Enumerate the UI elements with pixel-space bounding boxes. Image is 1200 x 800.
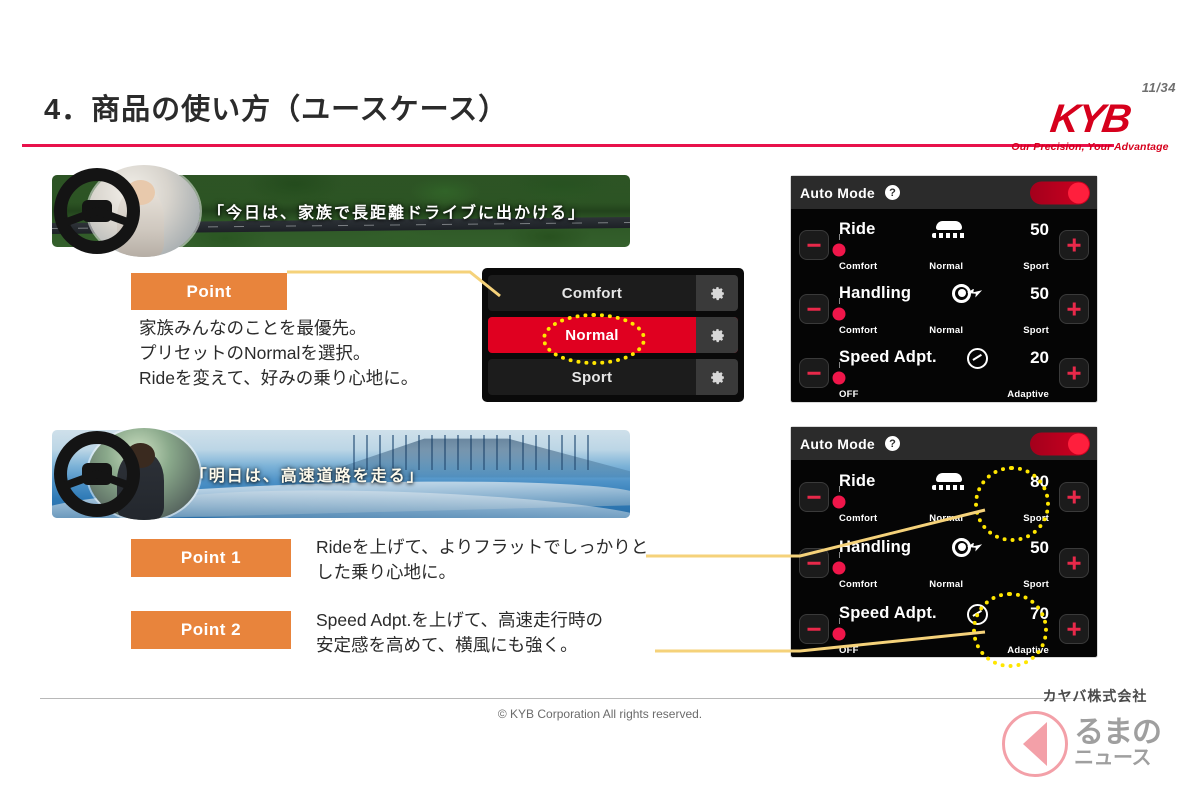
scale-max: Sport — [1023, 325, 1049, 336]
scale-min: Comfort — [839, 325, 877, 336]
preset-label: Comfort — [488, 285, 696, 302]
hmi-panel-1: Auto Mode ? Ride 50 — [790, 175, 1098, 403]
ride-label: Ride — [839, 220, 876, 239]
driver-cutin-1 — [52, 175, 212, 247]
handling-increase-button[interactable] — [1059, 294, 1089, 324]
preset-settings-button[interactable] — [696, 275, 738, 311]
ride-label: Ride — [839, 472, 876, 491]
watermark-line-1: るまの — [1074, 719, 1161, 748]
ride-slider-group: Ride 80 Comfort Normal Sport — [835, 470, 1053, 524]
steering-wheel-icon — [54, 431, 140, 517]
setting-row-speed-adpt: Speed Adpt. 70 OFF Adaptive — [791, 596, 1097, 662]
speed-adpt-increase-button[interactable] — [1059, 614, 1089, 644]
point-badge-1: Point 1 — [131, 539, 291, 577]
scale-min: OFF — [839, 645, 859, 656]
preset-settings-button[interactable] — [696, 317, 738, 353]
setting-row-speed-adpt: Speed Adpt. 20 OFF Adaptive — [791, 341, 1097, 405]
handling-decrease-button[interactable] — [799, 294, 829, 324]
kyb-logo: KYB Our Precision, Your Advantage — [1008, 100, 1172, 153]
speed-adpt-value: 20 — [1023, 348, 1049, 368]
page-number: 11/34 — [1142, 80, 1176, 95]
point-text-main: 家族みんなのことを最優先。 プリセットのNormalを選択。 Rideを変えて、… — [139, 316, 418, 391]
handling-slider-group: Handling 50 Comfort Normal S — [835, 536, 1053, 590]
scale-mid: Normal — [929, 579, 963, 590]
handling-increase-button[interactable] — [1059, 548, 1089, 578]
scale-max: Sport — [1023, 513, 1049, 524]
toggle-knob — [1068, 433, 1089, 454]
speed-adpt-scale: OFF Adaptive — [837, 387, 1051, 400]
steering-wheel-icon — [950, 538, 984, 558]
handling-decrease-button[interactable] — [799, 548, 829, 578]
gear-icon — [709, 327, 726, 344]
watermark-company: カヤバ株式会社 — [1002, 686, 1188, 706]
speed-adpt-scale: OFF Adaptive — [837, 643, 1051, 656]
point-badge-2: Point 2 — [131, 611, 291, 649]
point-text-2: Speed Adpt.を上げて、高速走行時の 安定感を高めて、横風にも強く。 — [316, 608, 603, 658]
scale-max: Adaptive — [1007, 645, 1049, 656]
handling-scale: Comfort Normal Sport — [837, 323, 1051, 336]
footer-divider — [40, 698, 1085, 699]
setting-row-handling: Handling 50 Comfort Normal S — [791, 530, 1097, 596]
watermark-logo: カヤバ株式会社 るまの ニュース — [1002, 686, 1188, 778]
scale-min: Comfort — [839, 579, 877, 590]
handling-label: Handling — [839, 538, 911, 557]
speed-adpt-value: 70 — [1023, 604, 1049, 624]
scale-max: Adaptive — [1007, 389, 1049, 400]
kyb-logo-tagline: Our Precision, Your Advantage — [1008, 141, 1172, 153]
gauge-icon — [963, 348, 997, 368]
speed-adpt-slider-group: Speed Adpt. 20 OFF Adaptive — [835, 346, 1053, 400]
gauge-icon — [963, 604, 997, 624]
ride-decrease-button[interactable] — [799, 482, 829, 512]
steering-wheel-icon — [54, 168, 140, 254]
gear-icon — [709, 285, 726, 302]
car-suspension-icon — [932, 472, 966, 492]
speed-adpt-label: Speed Adpt. — [839, 604, 937, 623]
scale-max: Sport — [1023, 261, 1049, 272]
scale-max: Sport — [1023, 579, 1049, 590]
handling-value: 50 — [1023, 284, 1049, 304]
panel-body: Ride 80 Comfort Normal Sport — [791, 460, 1097, 664]
speed-adpt-label: Speed Adpt. — [839, 348, 937, 367]
ride-value: 50 — [1023, 220, 1049, 240]
scale-mid: Normal — [929, 261, 963, 272]
auto-mode-toggle[interactable] — [1030, 432, 1090, 455]
page-title: 4．商品の使い方（ユースケース） — [44, 86, 508, 128]
scale-mid: Normal — [929, 325, 963, 336]
speed-adpt-increase-button[interactable] — [1059, 358, 1089, 388]
steering-wheel-icon — [950, 284, 984, 304]
scene-caption-2: 「明日は、高速道路を走る」 — [191, 462, 425, 486]
driver-badge-2 — [52, 430, 172, 518]
scale-mid: Normal — [929, 513, 963, 524]
speed-adpt-decrease-button[interactable] — [799, 614, 829, 644]
ride-scale: Comfort Normal Sport — [837, 511, 1051, 524]
preset-label: Normal — [488, 327, 696, 344]
speed-adpt-slider-group: Speed Adpt. 70 OFF Adaptive — [835, 602, 1053, 656]
question-icon[interactable]: ? — [885, 185, 900, 200]
auto-mode-label: Auto Mode — [800, 185, 875, 201]
speed-adpt-decrease-button[interactable] — [799, 358, 829, 388]
kurumanews-logo: るまの ニュース — [1002, 710, 1188, 778]
ride-slider-group: Ride 50 Comfort Normal Sport — [835, 218, 1053, 272]
chevron-circle-icon — [1002, 711, 1068, 777]
auto-mode-toggle[interactable] — [1030, 181, 1090, 204]
panel-header: Auto Mode ? — [791, 176, 1097, 209]
panel-header: Auto Mode ? — [791, 427, 1097, 460]
point-text-1: Rideを上げて、よりフラットでしっかりと した乗り心地に。 — [316, 535, 648, 585]
preset-label: Sport — [488, 369, 696, 386]
ride-decrease-button[interactable] — [799, 230, 829, 260]
ride-increase-button[interactable] — [1059, 230, 1089, 260]
setting-row-ride: Ride 80 Comfort Normal Sport — [791, 464, 1097, 530]
ride-increase-button[interactable] — [1059, 482, 1089, 512]
watermark-line-2: ニュース — [1074, 747, 1161, 769]
preset-option-comfort[interactable]: Comfort — [488, 275, 738, 311]
slide-root: 11/34 4．商品の使い方（ユースケース） KYB Our Precision… — [0, 0, 1200, 800]
driver-cutin-2 — [52, 430, 212, 518]
car-suspension-icon — [932, 220, 966, 240]
question-icon[interactable]: ? — [885, 436, 900, 451]
handling-label: Handling — [839, 284, 911, 303]
preset-option-normal[interactable]: Normal — [488, 317, 738, 353]
preset-settings-button[interactable] — [696, 359, 738, 395]
auto-mode-label: Auto Mode — [800, 436, 875, 452]
title-divider — [22, 144, 1114, 147]
scale-min: Comfort — [839, 513, 877, 524]
driver-badge-1 — [52, 175, 172, 247]
handling-value: 50 — [1023, 538, 1049, 558]
scale-min: OFF — [839, 389, 859, 400]
point-badge-main: Point — [131, 273, 287, 310]
preset-option-sport[interactable]: Sport — [488, 359, 738, 395]
scene-caption-1: 「今日は、家族で長距離ドライブに出かける」 — [208, 199, 586, 223]
ride-scale: Comfort Normal Sport — [837, 259, 1051, 272]
scale-min: Comfort — [839, 261, 877, 272]
kyb-logo-mark: KYB — [1005, 100, 1174, 138]
gear-icon — [709, 369, 726, 386]
watermark-text: るまの ニュース — [1074, 719, 1161, 770]
hmi-panel-2: Auto Mode ? Ride 80 — [790, 426, 1098, 658]
handling-scale: Comfort Normal Sport — [837, 577, 1051, 590]
panel-body: Ride 50 Comfort Normal Sport — [791, 209, 1097, 407]
setting-row-ride: Ride 50 Comfort Normal Sport — [791, 213, 1097, 277]
ride-value: 80 — [1023, 472, 1049, 492]
setting-row-handling: Handling 50 Comfort Normal S — [791, 277, 1097, 341]
toggle-knob — [1068, 182, 1089, 203]
preset-selector: Comfort Normal — [482, 268, 744, 402]
handling-slider-group: Handling 50 Comfort Normal S — [835, 282, 1053, 336]
